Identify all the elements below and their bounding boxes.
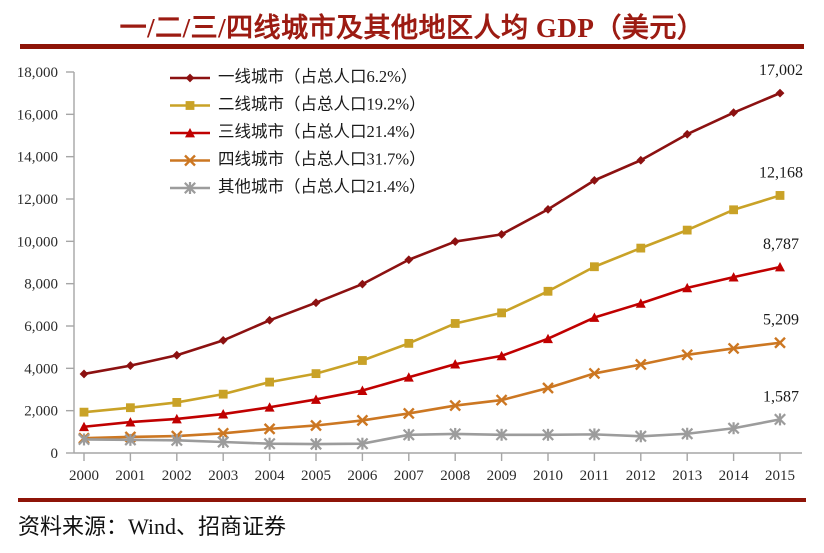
- legend-item-3[interactable]: 三线城市（占总人口21.4%）: [170, 122, 426, 141]
- data-point-marker: [497, 308, 506, 317]
- series-line: [84, 343, 780, 438]
- data-point-marker: [729, 205, 738, 214]
- series-line: [84, 195, 780, 412]
- y-axis-tick-label: 8,000: [24, 277, 58, 293]
- y-axis-tick-label: 12,000: [17, 192, 58, 208]
- data-point-marker: [186, 74, 195, 83]
- data-point-marker: [126, 403, 135, 412]
- x-axis-tick-label: 2006: [347, 468, 378, 484]
- x-axis-tick-label: 2003: [208, 468, 238, 484]
- series-line: [84, 267, 780, 427]
- data-point-marker: [776, 89, 785, 98]
- legend-item-2[interactable]: 二线城市（占总人口19.2%）: [170, 94, 426, 113]
- y-axis-tick-label: 10,000: [17, 234, 58, 250]
- x-axis-tick-label: 2000: [69, 468, 99, 484]
- data-point-marker: [265, 316, 274, 325]
- data-point-marker: [219, 390, 228, 399]
- y-axis-tick-label: 16,000: [17, 107, 58, 123]
- legend-label: 其他城市（占总人口21.4%）: [218, 177, 426, 196]
- y-axis-tick-label: 0: [51, 446, 59, 462]
- y-axis-tick-label: 14,000: [17, 150, 58, 166]
- data-point-marker: [776, 191, 785, 200]
- x-axis-tick-label: 2004: [255, 468, 286, 484]
- x-axis-tick-label: 2013: [672, 468, 702, 484]
- data-point-marker: [312, 369, 321, 378]
- x-axis-tick-label: 2012: [626, 468, 656, 484]
- data-point-marker: [126, 361, 135, 370]
- series-end-label: 5,209: [763, 312, 799, 329]
- series-end-label: 12,168: [759, 164, 803, 181]
- data-point-marker: [358, 356, 367, 365]
- page-title: 一/二/三/四线城市及其他地区人均 GDP（美元）: [0, 6, 824, 45]
- data-point-marker: [186, 101, 195, 110]
- series-end-label: 1,587: [763, 388, 799, 405]
- data-point-marker: [590, 262, 599, 271]
- x-axis-tick-label: 2011: [580, 468, 609, 484]
- series-2: 12,168: [80, 164, 803, 416]
- series-end-label: 8,787: [763, 236, 799, 253]
- data-point-marker: [729, 108, 738, 117]
- data-point-marker: [544, 287, 553, 296]
- legend-item-1[interactable]: 一线城市（占总人口6.2%）: [170, 67, 417, 86]
- x-axis-tick-label: 2007: [394, 468, 425, 484]
- legend-label: 二线城市（占总人口19.2%）: [218, 94, 426, 113]
- title-divider: [20, 44, 804, 49]
- y-axis-tick-label: 6,000: [24, 319, 58, 335]
- data-point-marker: [219, 336, 228, 345]
- x-axis-tick-label: 2014: [719, 468, 750, 484]
- data-point-marker: [172, 351, 181, 360]
- line-chart: 02,0004,0006,0008,00010,00012,00014,0001…: [0, 52, 824, 498]
- data-point-marker: [451, 319, 460, 328]
- series-5: 1,587: [79, 388, 799, 450]
- data-point-marker: [404, 339, 413, 348]
- legend-item-4[interactable]: 四线城市（占总人口31.7%）: [170, 149, 426, 168]
- data-point-marker: [683, 226, 692, 235]
- source-text: 资料来源：Wind、招商证券: [18, 509, 286, 541]
- data-point-marker: [636, 244, 645, 253]
- y-axis-tick-label: 18,000: [17, 65, 58, 81]
- data-point-marker: [265, 378, 274, 387]
- x-axis-tick-label: 2002: [162, 468, 192, 484]
- series-end-label: 17,002: [759, 62, 803, 79]
- y-axis-tick-label: 4,000: [24, 361, 58, 377]
- legend-item-5[interactable]: 其他城市（占总人口21.4%）: [170, 177, 426, 196]
- data-point-marker: [80, 408, 89, 417]
- x-axis-tick-label: 2015: [765, 468, 795, 484]
- data-point-marker: [451, 237, 460, 246]
- series-line: [84, 419, 780, 444]
- data-point-marker: [80, 370, 89, 379]
- footer-divider: [18, 498, 806, 502]
- x-axis-tick-label: 2010: [533, 468, 563, 484]
- chart-card: 一/二/三/四线城市及其他地区人均 GDP（美元） 02,0004,0006,0…: [0, 0, 824, 553]
- x-axis-tick-label: 2001: [115, 468, 145, 484]
- x-axis-tick-label: 2005: [301, 468, 331, 484]
- x-axis-tick-label: 2008: [440, 468, 470, 484]
- legend: 一线城市（占总人口6.2%）二线城市（占总人口19.2%）三线城市（占总人口21…: [170, 67, 426, 196]
- legend-label: 一线城市（占总人口6.2%）: [218, 67, 417, 86]
- x-axis-tick-label: 2009: [487, 468, 517, 484]
- legend-label: 四线城市（占总人口31.7%）: [218, 149, 426, 168]
- data-point-marker: [172, 398, 181, 407]
- legend-label: 三线城市（占总人口21.4%）: [218, 122, 426, 141]
- y-axis-tick-label: 2,000: [24, 404, 58, 420]
- data-point-marker: [312, 298, 321, 307]
